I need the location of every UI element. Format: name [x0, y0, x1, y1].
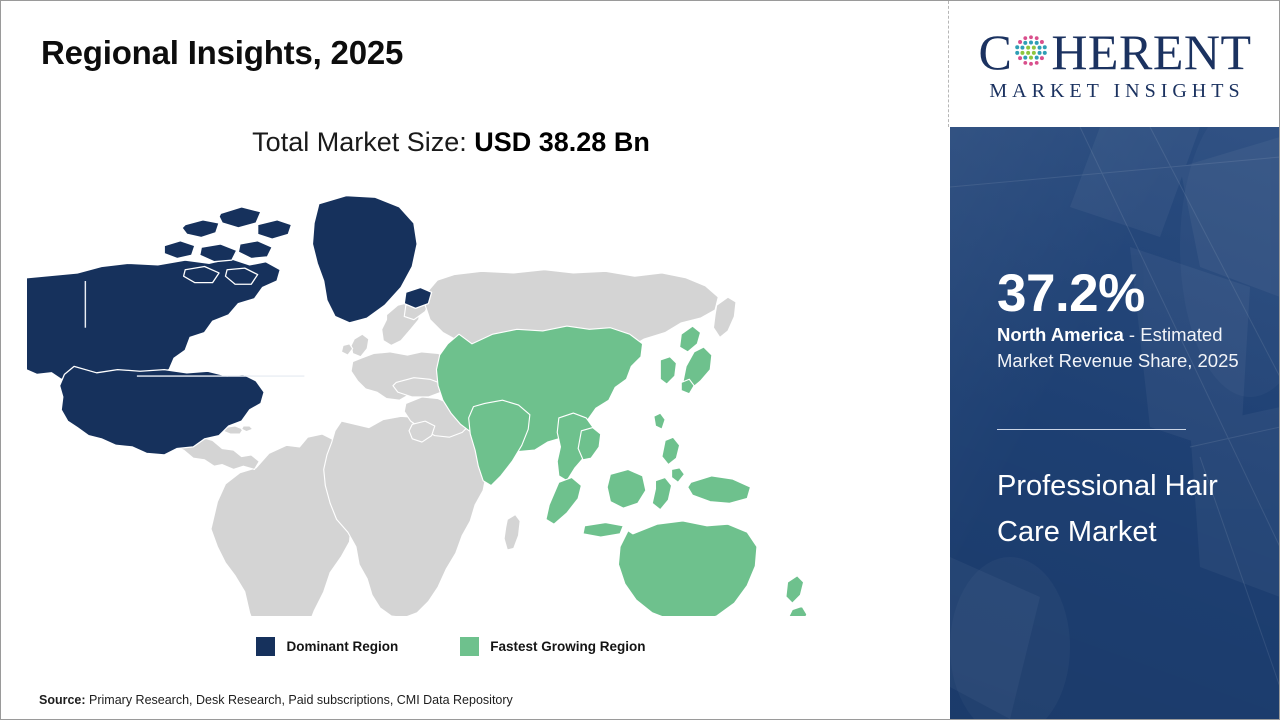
stat-panel: 37.2% North America - Estimated Market R… — [950, 127, 1280, 719]
logo-word-herent: HERENT — [1051, 27, 1251, 77]
logo-subtitle: MARKET INSIGHTS — [985, 80, 1244, 103]
source-note: Source: Primary Research, Desk Research,… — [39, 693, 513, 707]
source-label: Source: — [39, 693, 86, 707]
legend-label-fastest-growing: Fastest Growing Region — [490, 639, 645, 654]
legend-item-dominant-region[interactable]: Dominant Region — [256, 637, 398, 656]
vertical-dashed-divider — [948, 1, 949, 127]
stat-description: North America - Estimated Market Revenue… — [997, 322, 1265, 375]
source-text: Primary Research, Desk Research, Paid su… — [86, 693, 513, 707]
legend-label-dominant: Dominant Region — [286, 639, 398, 654]
regional-insights-infographic: Regional Insights, 2025 Total Market Siz… — [0, 0, 1280, 720]
legend-swatch-dominant-icon — [256, 637, 275, 656]
stat-divider-rule — [997, 429, 1186, 430]
world-map — [27, 186, 833, 616]
legend-swatch-fastest-growing-icon — [460, 637, 479, 656]
left-content-panel: Regional Insights, 2025 Total Market Siz… — [1, 1, 949, 719]
logo-letter-c: C — [978, 27, 1012, 77]
stat-region-name: North America — [997, 324, 1124, 345]
page-title: Regional Insights, 2025 — [41, 34, 403, 72]
company-logo[interactable]: C — [950, 2, 1280, 127]
map-region-north-america — [27, 196, 432, 455]
stat-percentage: 37.2% — [997, 267, 1145, 320]
market-name: Professional Hair Care Market — [997, 464, 1247, 556]
world-map-svg — [27, 186, 833, 616]
map-region-asia-pacific — [436, 326, 806, 616]
total-market-size: Total Market Size: USD 38.28 Bn — [1, 127, 901, 158]
market-size-prefix: Total Market Size: — [252, 127, 474, 157]
legend-item-fastest-growing-region[interactable]: Fastest Growing Region — [460, 637, 645, 656]
stat-panel-content: 37.2% North America - Estimated Market R… — [997, 127, 1260, 719]
logo-wordmark: C — [978, 26, 1251, 78]
map-legend: Dominant Region Fastest Growing Region — [1, 637, 901, 656]
globe-dots-icon — [1012, 32, 1050, 70]
market-size-value: USD 38.28 Bn — [474, 127, 650, 157]
